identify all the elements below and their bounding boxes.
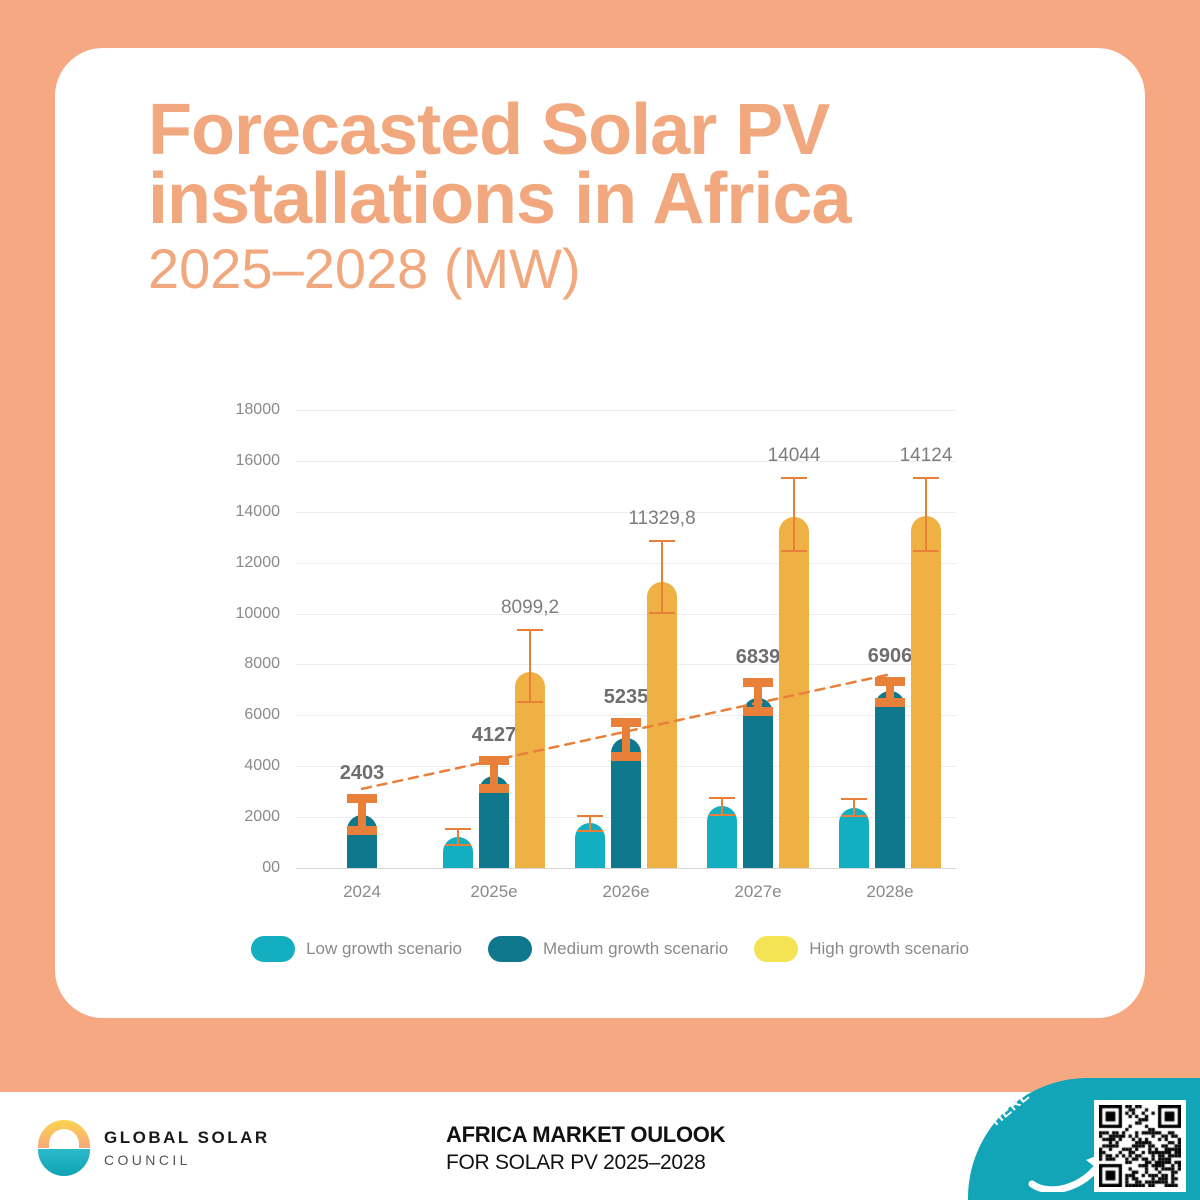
bar-high[interactable] (779, 517, 809, 868)
data-label: 8099,2 (501, 597, 559, 619)
qr-code[interactable] (1094, 1100, 1186, 1192)
chart-legend: Low growth scenarioMedium growth scenari… (240, 936, 980, 962)
y-axis-tick: 2000 (244, 808, 296, 826)
legend-label: Low growth scenario (306, 939, 462, 959)
title-subtitle: 2025–2028 (MW) (148, 240, 1048, 299)
error-bar (743, 678, 773, 716)
bar-med[interactable] (743, 698, 773, 868)
error-bar (479, 756, 509, 793)
legend-item[interactable]: Low growth scenario (251, 936, 462, 962)
gridline (296, 664, 956, 665)
gridline (296, 410, 956, 411)
data-label: 14124 (900, 445, 953, 467)
data-label: 14044 (768, 445, 821, 467)
gridline (296, 614, 956, 615)
x-axis-tick: 2028e (866, 882, 913, 902)
y-axis-tick: 10000 (236, 605, 297, 623)
title-line-2: installations in Africa (148, 165, 1048, 234)
legend-item[interactable]: Medium growth scenario (488, 936, 728, 962)
data-label: 2403 (340, 762, 385, 785)
report-title-line-1: AFRICA MARKET OULOOK (446, 1122, 725, 1148)
y-axis-tick: 00 (262, 859, 296, 877)
gridline (296, 563, 956, 564)
data-label: 11329,8 (628, 508, 695, 530)
error-bar (515, 629, 545, 703)
bar-med[interactable] (875, 691, 905, 868)
error-bar (779, 477, 809, 552)
y-axis-tick: 18000 (236, 401, 297, 419)
gridline (296, 715, 956, 716)
data-label: 6906 (868, 645, 913, 668)
legend-swatch (488, 936, 532, 962)
error-bar (839, 798, 869, 817)
title-line-1: Forecasted Solar PV (148, 96, 1048, 165)
data-label: 6839 (736, 646, 781, 669)
bar-high[interactable] (647, 582, 677, 868)
plot-area: 1800016000140001200010000800060004000200… (296, 410, 956, 868)
bar-high[interactable] (911, 516, 941, 868)
error-bar (347, 794, 377, 835)
y-axis-tick: 4000 (244, 757, 296, 775)
y-axis-tick: 12000 (236, 554, 297, 572)
gridline (296, 512, 956, 513)
y-axis-tick: 8000 (244, 655, 296, 673)
sun-logo-icon (38, 1120, 90, 1176)
error-bar (911, 477, 941, 553)
x-axis-tick: 2024 (343, 882, 381, 902)
gridline (296, 461, 956, 462)
gridline (296, 868, 956, 869)
logo-line-2: COUNCIL (104, 1152, 270, 1168)
infographic-root: Forecasted Solar PV installations in Afr… (0, 0, 1200, 1200)
logo-line-1: GLOBAL SOLAR (104, 1128, 270, 1148)
legend-label: High growth scenario (809, 939, 969, 959)
error-bar (647, 540, 677, 614)
y-axis-tick: 16000 (236, 452, 297, 470)
legend-item[interactable]: High growth scenario (754, 936, 969, 962)
bar-chart: 1800016000140001200010000800060004000200… (240, 398, 970, 898)
error-bar (707, 797, 737, 816)
report-title-line-2: FOR SOLAR PV 2025–2028 (446, 1151, 725, 1175)
title-block: Forecasted Solar PV installations in Afr… (148, 96, 1048, 299)
x-axis-tick: 2027e (734, 882, 781, 902)
legend-label: Medium growth scenario (543, 939, 728, 959)
error-bar (875, 677, 905, 707)
data-label: 5235 (604, 686, 649, 709)
error-bar (575, 815, 605, 833)
legend-swatch (754, 936, 798, 962)
error-bar (611, 718, 641, 760)
global-solar-council-logo: GLOBAL SOLAR COUNCIL (38, 1120, 270, 1176)
x-axis-tick: 2026e (602, 882, 649, 902)
report-title: AFRICA MARKET OULOOK FOR SOLAR PV 2025–2… (446, 1122, 725, 1175)
legend-swatch (251, 936, 295, 962)
y-axis-tick: 6000 (244, 706, 296, 724)
download-panel[interactable]: DOWNLOAD HERE (968, 1078, 1200, 1200)
y-axis-tick: 14000 (236, 503, 297, 521)
x-axis-tick: 2025e (470, 882, 517, 902)
error-bar (443, 828, 473, 845)
data-label: 4127 (472, 724, 517, 747)
